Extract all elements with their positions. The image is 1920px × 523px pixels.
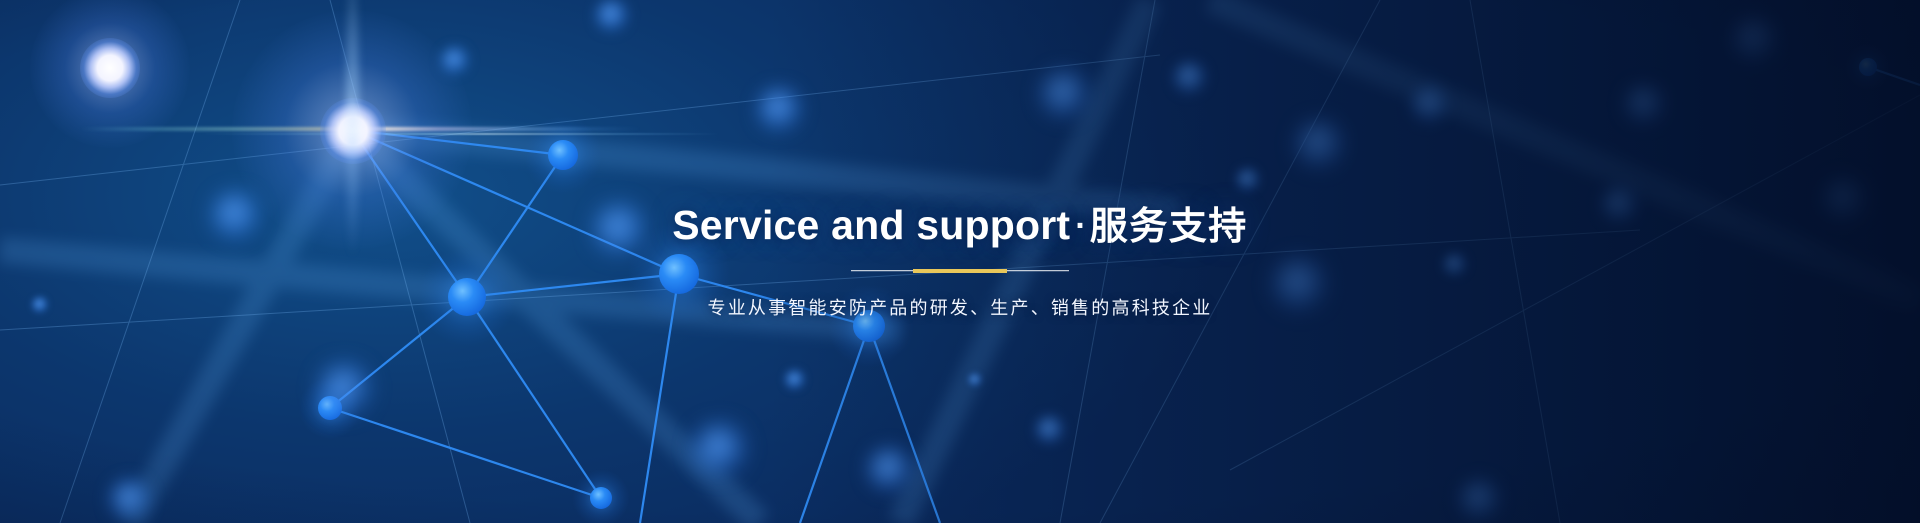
divider-accent: [913, 269, 1007, 273]
title-separator: ·: [1070, 207, 1090, 245]
title-divider: [851, 269, 1069, 272]
title-en: Service and support: [672, 202, 1070, 248]
page-title: Service and support·服务支持: [672, 203, 1248, 248]
banner-content: Service and support·服务支持 专业从事智能安防产品的研发、生…: [0, 0, 1920, 523]
service-support-banner: Service and support·服务支持 专业从事智能安防产品的研发、生…: [0, 0, 1920, 523]
page-subtitle: 专业从事智能安防产品的研发、生产、销售的高科技企业: [708, 294, 1213, 320]
title-cn: 服务支持: [1090, 204, 1248, 248]
